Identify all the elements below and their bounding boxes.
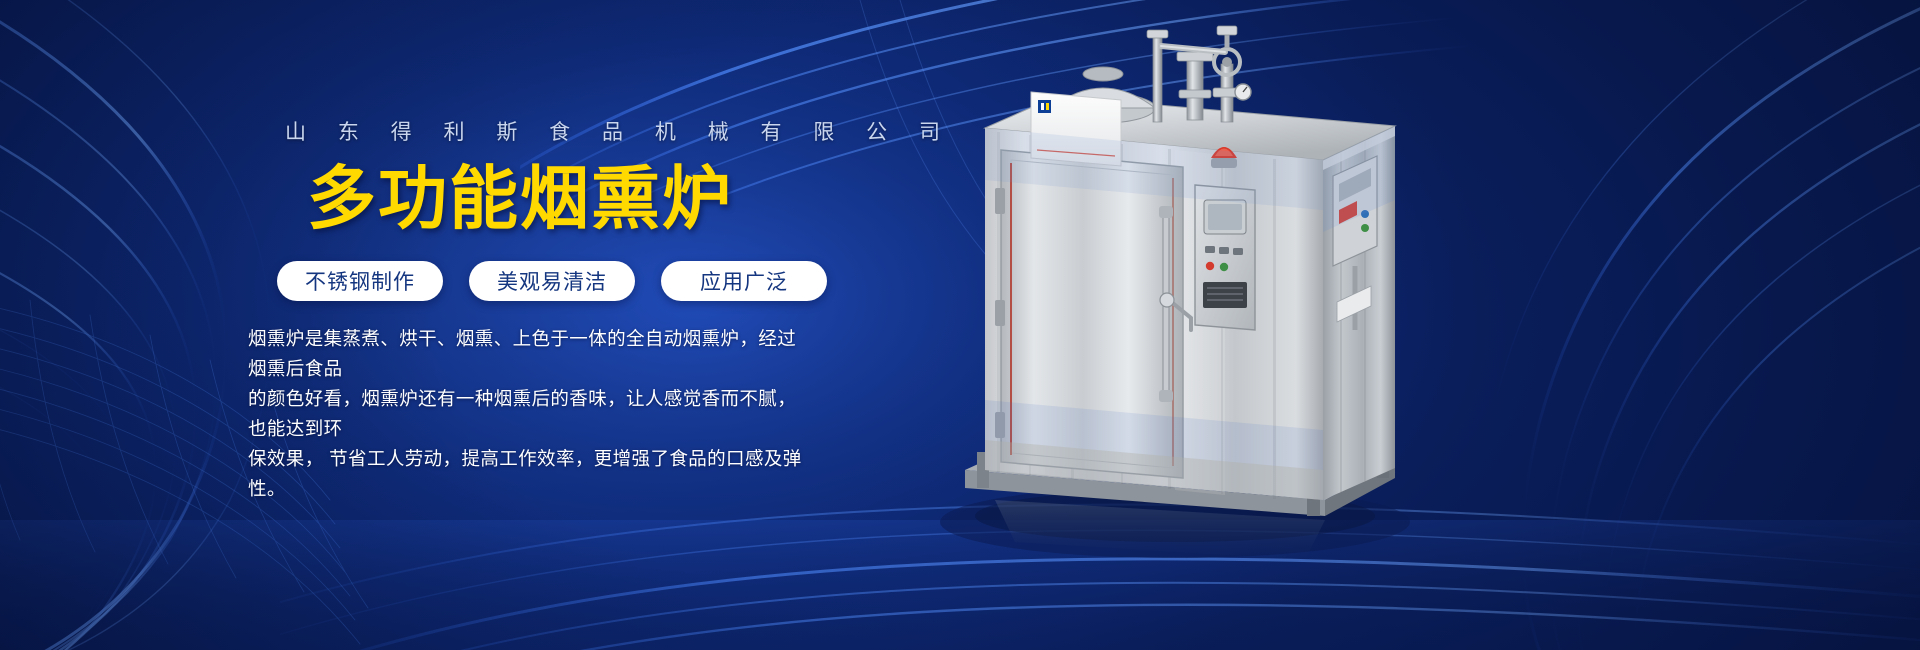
page-title: 多功能烟熏炉	[307, 165, 733, 234]
description-line-2: 的颜色好看，烟熏炉还有一种烟熏后的香味，让人感觉香而不腻，也能达到环	[248, 384, 814, 444]
feature-badge-wide-use[interactable]: 应用广泛	[661, 261, 827, 301]
company-name: 山 东 得 利 斯 食 品 机 械 有 限 公 司	[285, 116, 953, 146]
description-line-1: 烟熏炉是集蒸煮、烘干、烟熏、上色于一体的全自动烟熏炉，经过烟熏后食品	[248, 324, 814, 384]
description-line-3: 保效果， 节省工人劳动，提高工作效率，更增强了食品的口感及弹性。	[248, 444, 814, 504]
promo-banner: 山 东 得 利 斯 食 品 机 械 有 限 公 司 多功能烟熏炉 不锈钢制作 美…	[0, 0, 1920, 650]
product-photo: 得利斯 500型烟熏炉 售后服务热线： 0536-6339124	[925, 0, 1485, 650]
feature-badge-easy-clean[interactable]: 美观易清洁	[469, 261, 635, 301]
description-paragraph: 烟熏炉是集蒸煮、烘干、烟熏、上色于一体的全自动烟熏炉，经过烟熏后食品 的颜色好看…	[248, 324, 814, 504]
banner-text-content: 山 东 得 利 斯 食 品 机 械 有 限 公 司 多功能烟熏炉 不锈钢制作 美…	[0, 0, 860, 650]
feature-badge-stainless[interactable]: 不锈钢制作	[277, 261, 443, 301]
feature-badge-list: 不锈钢制作 美观易清洁 应用广泛	[277, 261, 827, 301]
